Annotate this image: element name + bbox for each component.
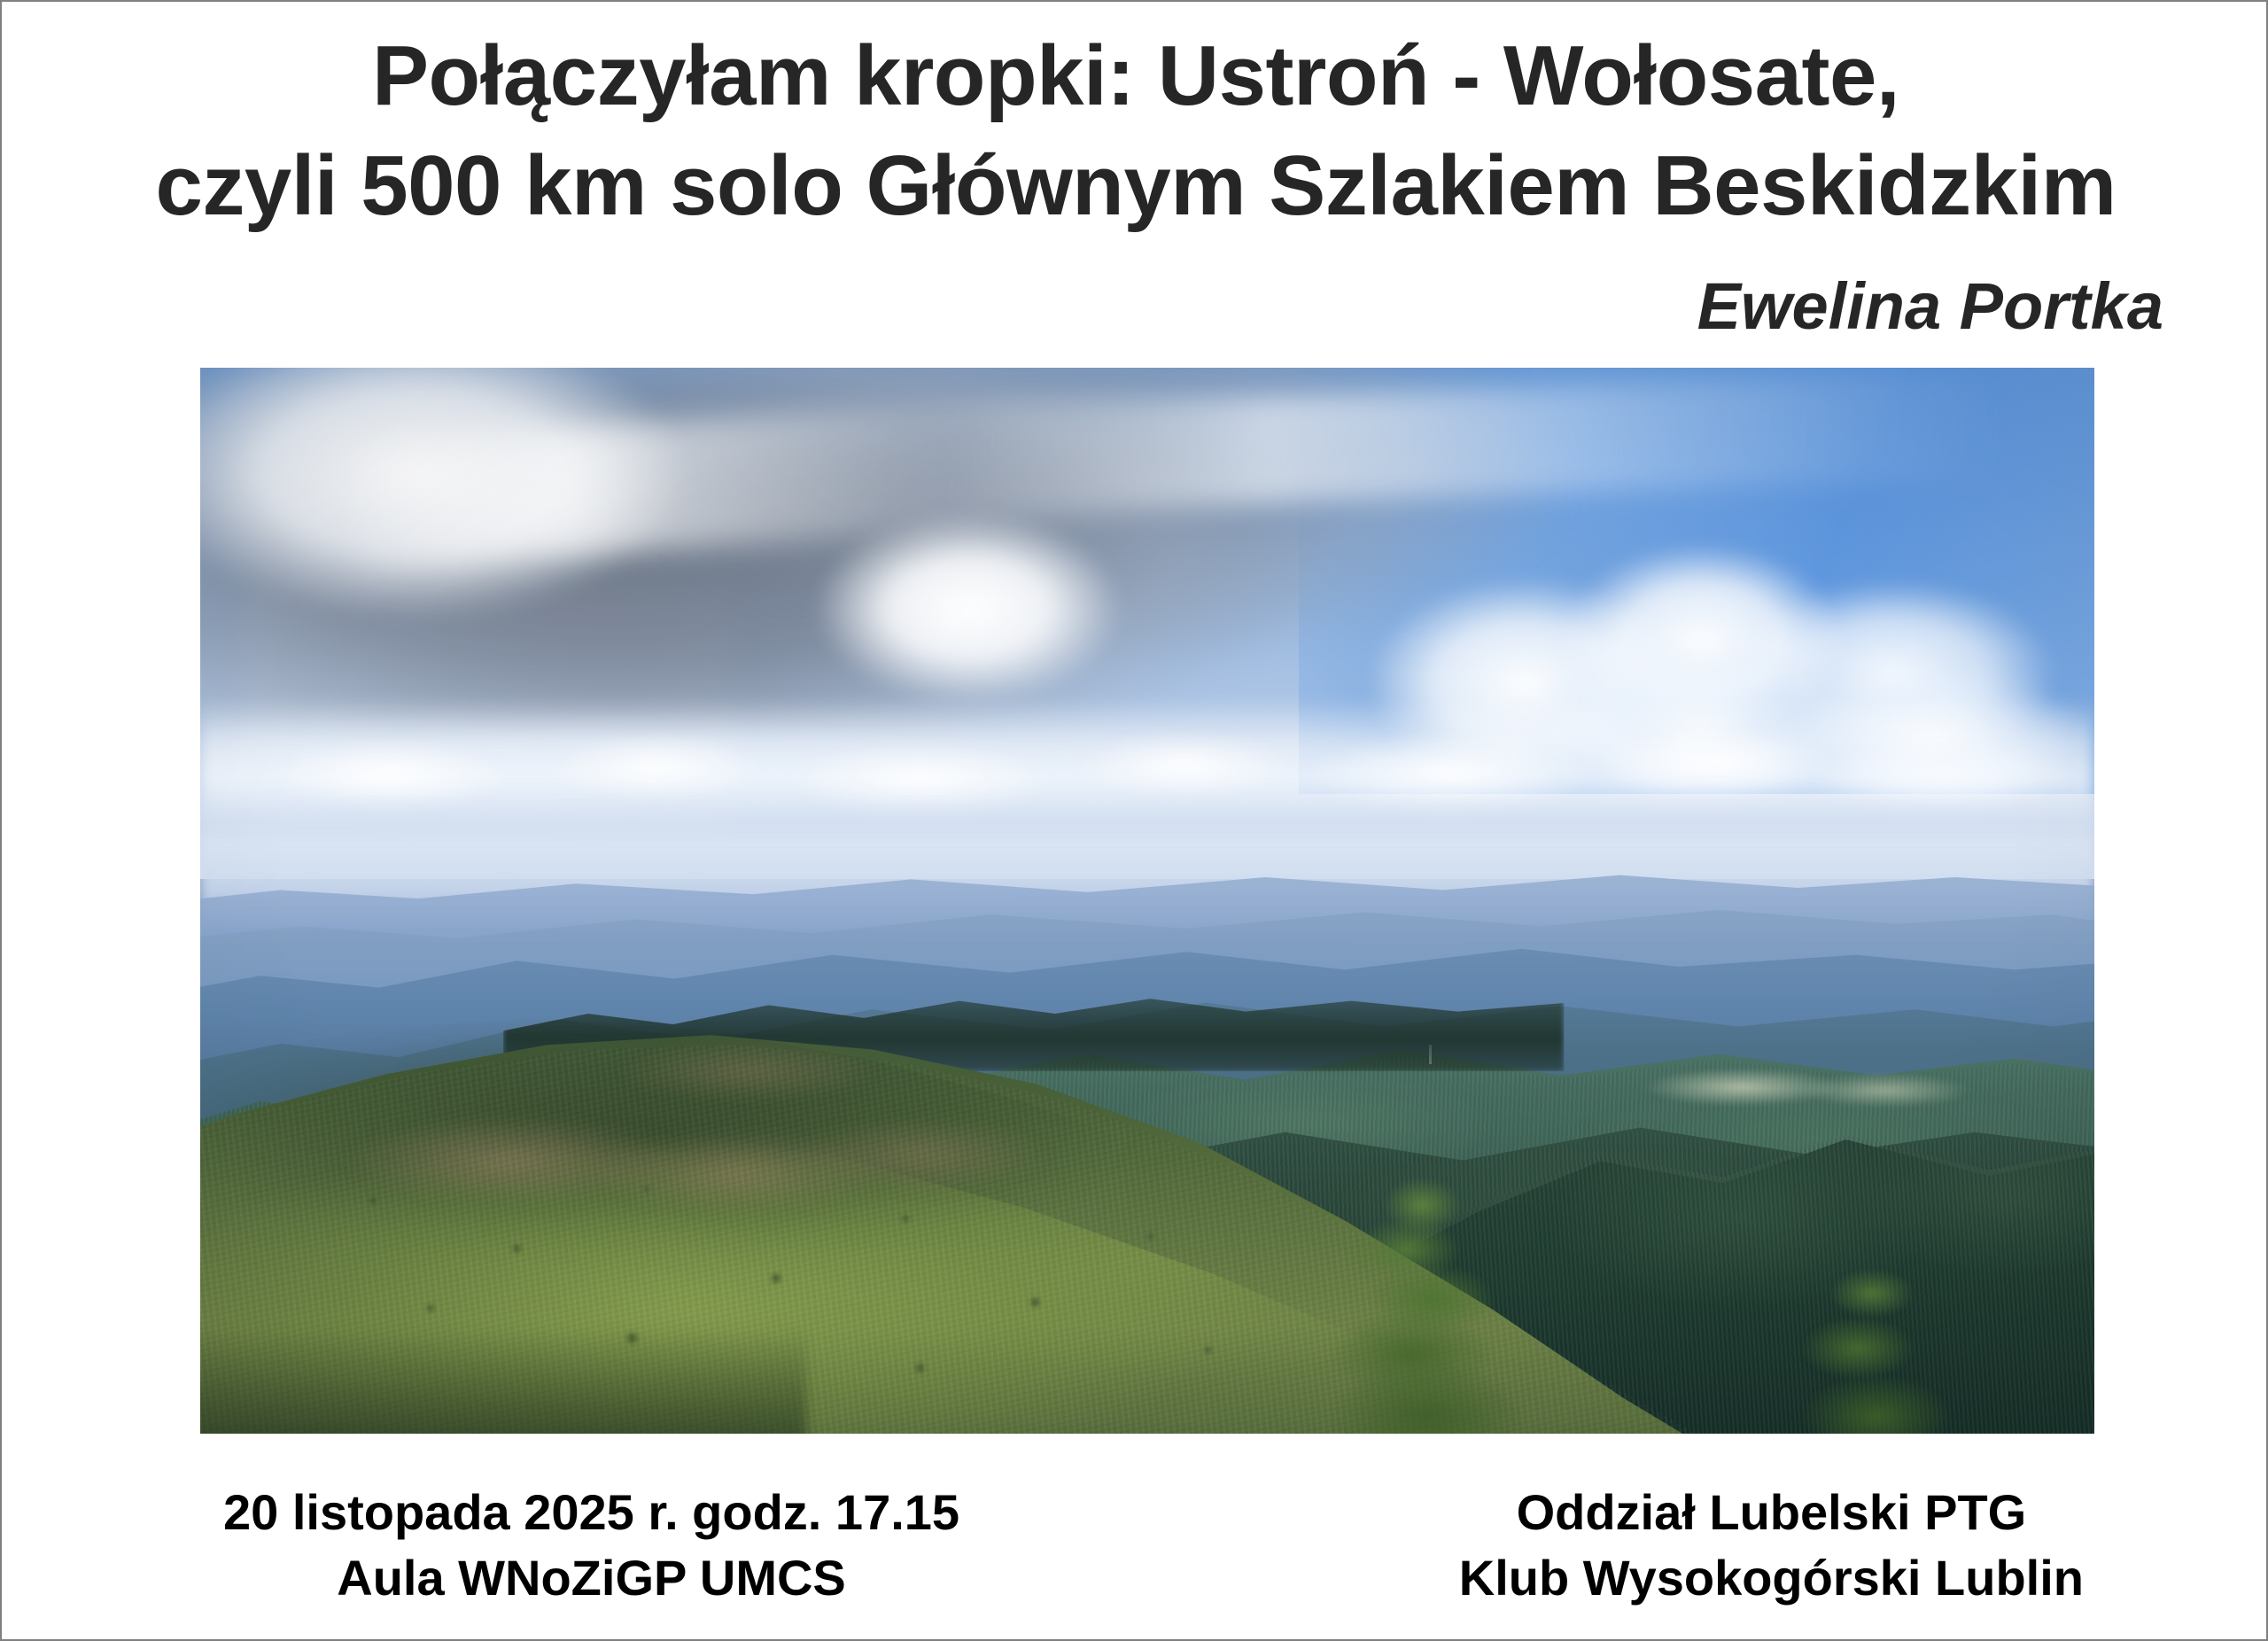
foreground-sapling [1299, 1178, 1545, 1434]
poster-slide: Połączyłam kropki: Ustroń - Wołosate, cz… [0, 0, 2268, 1641]
footer-date-time: 20 listopada 2025 r. godz. 17.15 [223, 1480, 959, 1545]
foreground-shadow-left [200, 1327, 806, 1434]
author-name: Ewelina Portka [1697, 268, 2163, 346]
title-line-2: czyli 500 km solo Głównym Szlakiem Beski… [2, 131, 2268, 241]
footer-event-details: 20 listopada 2025 r. godz. 17.15 Aula WN… [223, 1480, 959, 1611]
footer-organizer-1: Oddział Lubelski PTG [1459, 1480, 2084, 1545]
title-line-1: Połączyłam kropki: Ustroń - Wołosate, [2, 21, 2268, 131]
footer: 20 listopada 2025 r. godz. 17.15 Aula WN… [2, 1480, 2268, 1611]
valley-village-fields [1640, 1061, 1981, 1114]
page-title: Połączyłam kropki: Ustroń - Wołosate, cz… [2, 21, 2268, 241]
footer-organizer-2: Klub Wysokogórski Lublin [1459, 1545, 2084, 1611]
photo-stage [200, 368, 2094, 1434]
author-block: Ewelina Portka [2, 268, 2268, 346]
footer-venue: Aula WNoZiGP UMCS [223, 1545, 959, 1611]
footer-organizers: Oddział Lubelski PTG Klub Wysokogórski L… [1459, 1480, 2084, 1611]
foreground-sapling-right [1753, 1264, 1981, 1434]
mountain-panorama-photo [200, 368, 2094, 1434]
